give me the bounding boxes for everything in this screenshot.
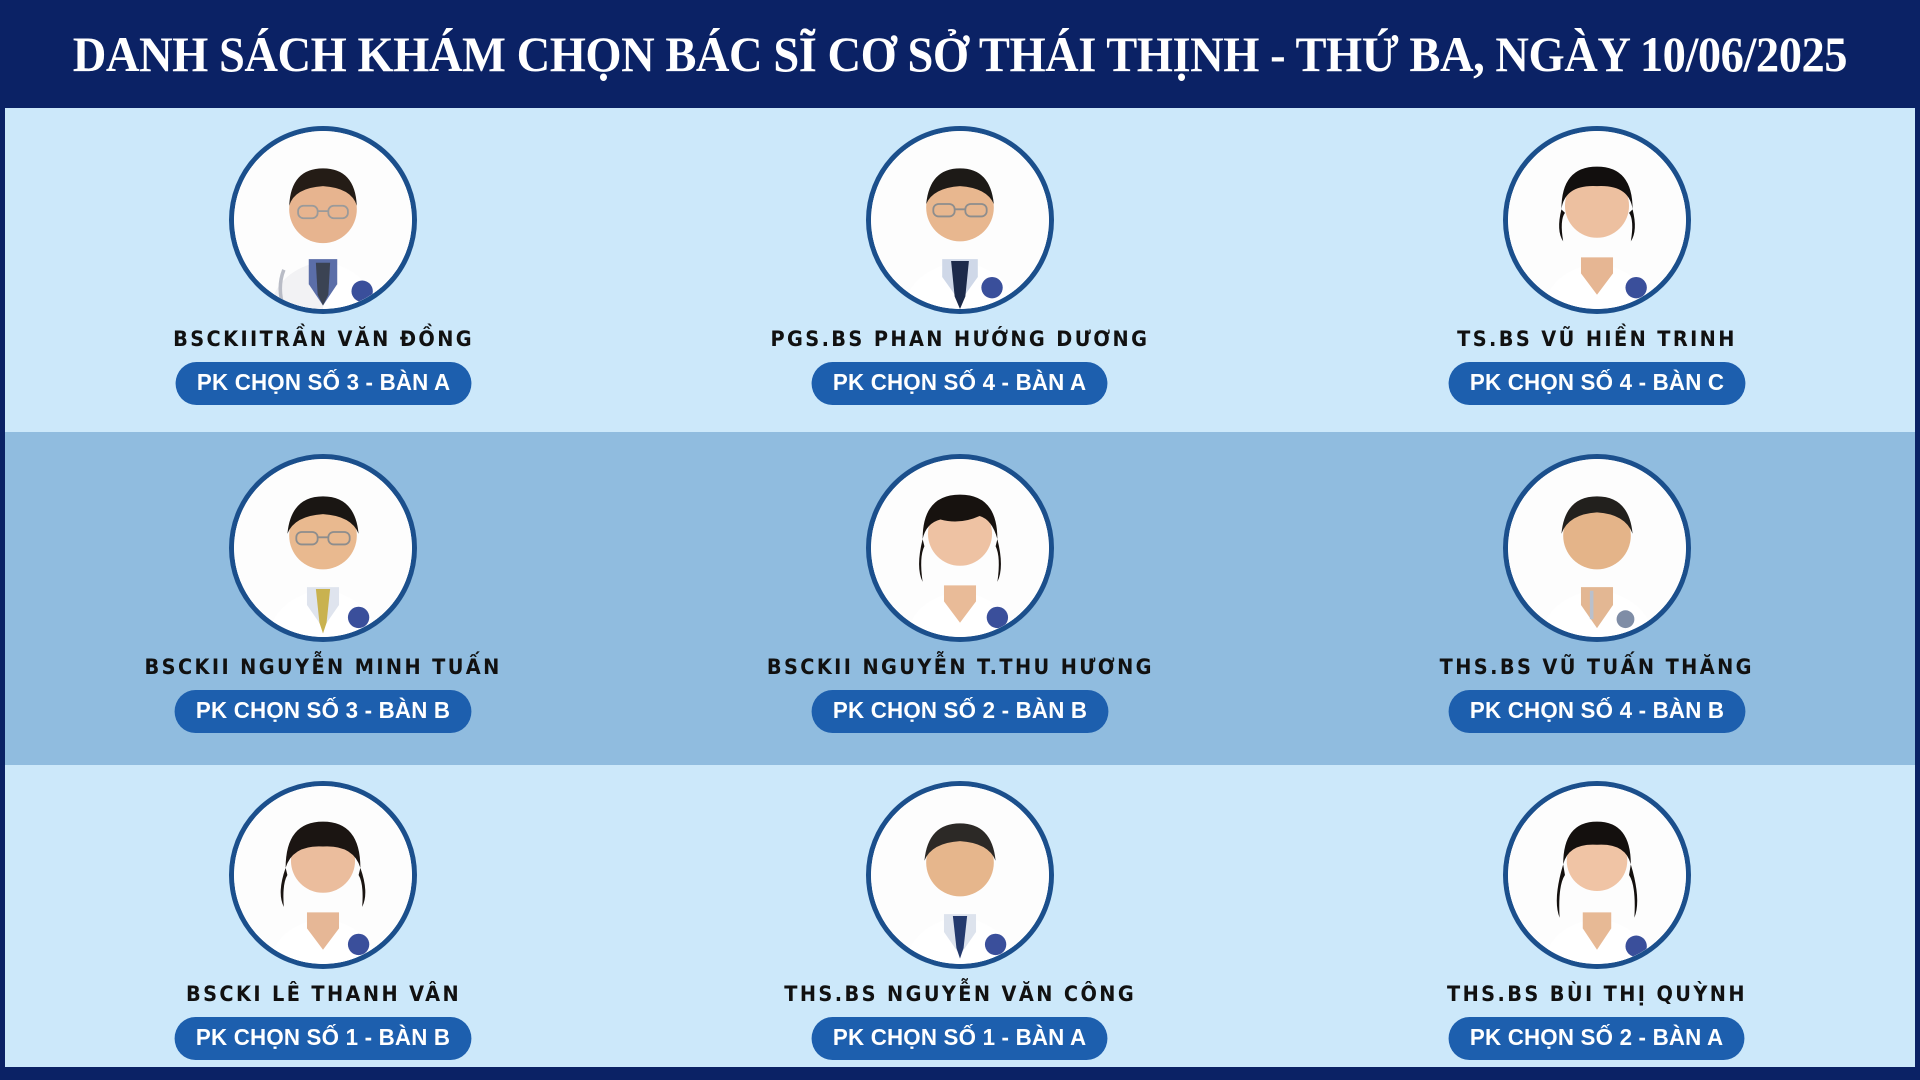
room-badge[interactable]: PK CHỌN SỐ 2 - BÀN B xyxy=(812,690,1109,732)
doctor-card[interactable]: TS.BS VŨ HIỀN TRINH PK CHỌN SỐ 4 - BÀN C xyxy=(1278,108,1915,432)
room-badge[interactable]: PK CHỌN SỐ 1 - BÀN B xyxy=(175,1017,472,1059)
room-badge[interactable]: PK CHỌN SỐ 4 - BÀN C xyxy=(1448,362,1745,404)
doctor-card[interactable]: BSCKIITRẦN VĂN ĐỒNG PK CHỌN SỐ 3 - BÀN A xyxy=(5,108,642,432)
room-badge[interactable]: PK CHỌN SỐ 1 - BÀN A xyxy=(812,1017,1108,1059)
avatar xyxy=(229,781,417,969)
doctor-photo-nguyen-thu-huong xyxy=(871,459,1049,637)
avatar xyxy=(229,454,417,642)
avatar xyxy=(866,454,1054,642)
doctor-card[interactable]: THS.BS NGUYỄN VĂN CÔNG PK CHỌN SỐ 1 - BÀ… xyxy=(642,765,1279,1068)
doctor-photo-phan-huong-duong xyxy=(871,131,1049,309)
doctor-card[interactable]: BSCKII NGUYỄN T.THU HƯƠNG PK CHỌN SỐ 2 -… xyxy=(642,432,1279,765)
doctor-name: BSCKI LÊ THANH VÂN xyxy=(186,983,461,1006)
doctor-photo-nguyen-minh-tuan xyxy=(234,459,412,637)
doctor-card[interactable]: THS.BS VŨ TUẤN THĂNG PK CHỌN SỐ 4 - BÀN … xyxy=(1278,432,1915,765)
doctor-photo-bui-thi-quynh xyxy=(1508,786,1686,964)
doctor-photo-tran-van-dong xyxy=(234,131,412,309)
room-badge[interactable]: PK CHỌN SỐ 4 - BÀN B xyxy=(1448,690,1745,732)
doctor-name: BSCKII NGUYỄN T.THU HƯƠNG xyxy=(766,656,1153,679)
avatar xyxy=(229,126,417,314)
avatar xyxy=(866,126,1054,314)
doctor-card[interactable]: BSCKI LÊ THANH VÂN PK CHỌN SỐ 1 - BÀN B xyxy=(5,765,642,1068)
doctor-photo-nguyen-van-cong xyxy=(871,786,1049,964)
doctor-card[interactable]: PGS.BS PHAN HƯỚNG DƯƠNG PK CHỌN SỐ 4 - B… xyxy=(642,108,1279,432)
page-title: DANH SÁCH KHÁM CHỌN BÁC SĨ CƠ SỞ THÁI TH… xyxy=(73,29,1847,79)
room-badge[interactable]: PK CHỌN SỐ 2 - BÀN A xyxy=(1449,1017,1745,1059)
avatar xyxy=(1503,781,1691,969)
doctor-name: BSCKII NGUYỄN MINH TUẤN xyxy=(145,656,502,679)
doctor-name: THS.BS VŨ TUẤN THĂNG xyxy=(1440,656,1754,679)
doctor-photo-vu-tuan-thang xyxy=(1508,459,1686,637)
avatar xyxy=(1503,126,1691,314)
room-badge[interactable]: PK CHỌN SỐ 4 - BÀN A xyxy=(812,362,1108,404)
doctor-grid: BSCKIITRẦN VĂN ĐỒNG PK CHỌN SỐ 3 - BÀN A xyxy=(5,108,1915,1068)
doctor-name: TS.BS VŨ HIỀN TRINH xyxy=(1457,328,1737,351)
doctor-card[interactable]: THS.BS BÙI THỊ QUỲNH PK CHỌN SỐ 2 - BÀN … xyxy=(1278,765,1915,1068)
doctor-photo-vu-hien-trinh xyxy=(1508,131,1686,309)
poster-header: DANH SÁCH KHÁM CHỌN BÁC SĨ CƠ SỞ THÁI TH… xyxy=(0,0,1920,108)
doctor-name: THS.BS NGUYỄN VĂN CÔNG xyxy=(784,983,1136,1006)
avatar xyxy=(1503,454,1691,642)
doctor-name: PGS.BS PHAN HƯỚNG DƯƠNG xyxy=(771,328,1150,351)
doctor-roster-poster: DANH SÁCH KHÁM CHỌN BÁC SĨ CƠ SỞ THÁI TH… xyxy=(0,0,1920,1080)
doctor-card[interactable]: BSCKII NGUYỄN MINH TUẤN PK CHỌN SỐ 3 - B… xyxy=(5,432,642,765)
room-badge[interactable]: PK CHỌN SỐ 3 - BÀN B xyxy=(175,690,472,732)
room-badge[interactable]: PK CHỌN SỐ 3 - BÀN A xyxy=(175,362,471,404)
doctor-name: THS.BS BÙI THỊ QUỲNH xyxy=(1447,983,1747,1006)
doctor-name: BSCKIITRẦN VĂN ĐỒNG xyxy=(173,328,474,351)
avatar xyxy=(866,781,1054,969)
doctor-photo-le-thanh-van xyxy=(234,786,412,964)
